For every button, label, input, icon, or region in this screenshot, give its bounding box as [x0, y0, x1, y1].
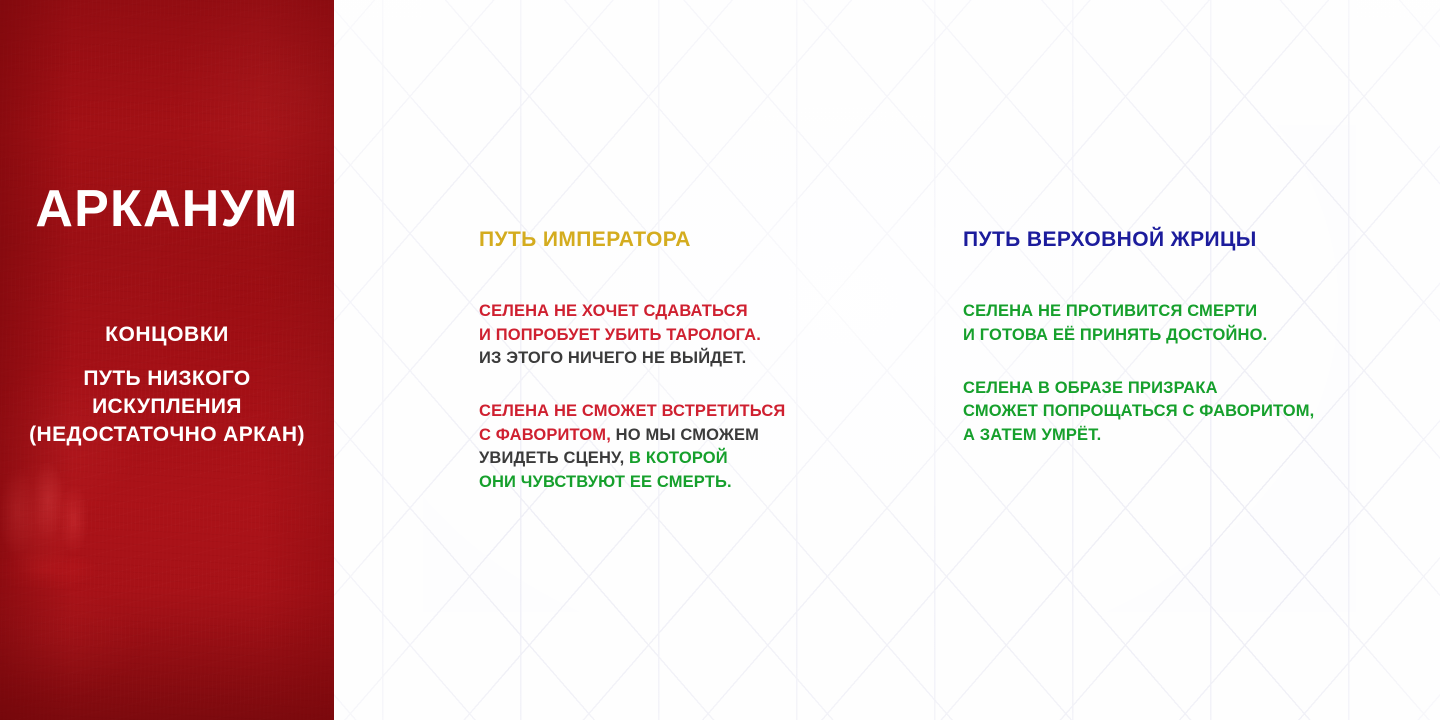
column-heading-priestess: ПУТЬ ВЕРХОВНОЙ ЖРИЦЫ: [963, 228, 1403, 252]
ending-paragraph: СЕЛЕНА НЕ ХОЧЕТ СДАВАТЬСЯИ ПОПРОБУЕТ УБИ…: [479, 300, 879, 370]
slide-root: АРКАНУМ КОНЦОВКИ ПУТЬ НИЗКОГО ИСКУПЛЕНИЯ…: [0, 0, 1440, 720]
column-priestess: ПУТЬ ВЕРХОВНОЙ ЖРИЦЫ СЕЛЕНА НЕ ПРОТИВИТС…: [963, 228, 1403, 447]
text-run-green: ОНИ ЧУВСТВУЮТ ЕЕ СМЕРТЬ.: [479, 473, 732, 491]
column-heading-emperor: ПУТЬ ИМПЕРАТОРА: [479, 228, 879, 252]
text-run-green: СЕЛЕНА В ОБРАЗЕ ПРИЗРАКА: [963, 379, 1218, 397]
text-run-red: СЕЛЕНА НЕ СМОЖЕТ ВСТРЕТИТЬСЯ: [479, 402, 785, 420]
text-run-green: И ГОТОВА ЕЁ ПРИНЯТЬ ДОСТОЙНО.: [963, 326, 1267, 344]
sidebar-kicker-label: КОНЦОВКИ: [18, 322, 316, 347]
ending-paragraph: СЕЛЕНА В ОБРАЗЕ ПРИЗРАКАСМОЖЕТ ПОПРОЩАТЬ…: [963, 377, 1403, 447]
text-run-red: С ФАВОРИТОМ,: [479, 426, 611, 444]
ending-paragraph: СЕЛЕНА НЕ СМОЖЕТ ВСТРЕТИТЬСЯС ФАВОРИТОМ,…: [479, 400, 879, 494]
page-title: АРКАНУМ: [0, 183, 334, 235]
text-run-gray: ИЗ ЭТОГО НИЧЕГО НЕ ВЫЙДЕТ.: [479, 349, 746, 367]
column-body-priestess: СЕЛЕНА НЕ ПРОТИВИТСЯ СМЕРТИИ ГОТОВА ЕЁ П…: [963, 300, 1403, 447]
text-run-red: СЕЛЕНА НЕ ХОЧЕТ СДАВАТЬСЯ: [479, 302, 748, 320]
ending-paragraph: СЕЛЕНА НЕ ПРОТИВИТСЯ СМЕРТИИ ГОТОВА ЕЁ П…: [963, 300, 1403, 347]
sidebar-subtitle-block: КОНЦОВКИ ПУТЬ НИЗКОГО ИСКУПЛЕНИЯ (НЕДОСТ…: [18, 322, 316, 448]
text-run-green: СЕЛЕНА НЕ ПРОТИВИТСЯ СМЕРТИ: [963, 302, 1257, 320]
content-canvas: ПУТЬ ИМПЕРАТОРА СЕЛЕНА НЕ ХОЧЕТ СДАВАТЬС…: [334, 0, 1440, 720]
text-run-gray: НО МЫ СМОЖЕМ: [611, 426, 759, 444]
sidebar-content: АРКАНУМ КОНЦОВКИ ПУТЬ НИЗКОГО ИСКУПЛЕНИЯ…: [0, 0, 334, 720]
endings-columns: ПУТЬ ИМПЕРАТОРА СЕЛЕНА НЕ ХОЧЕТ СДАВАТЬС…: [334, 0, 1440, 720]
text-run-green: В КОТОРОЙ: [624, 449, 727, 467]
title-sidebar: АРКАНУМ КОНЦОВКИ ПУТЬ НИЗКОГО ИСКУПЛЕНИЯ…: [0, 0, 334, 720]
column-body-emperor: СЕЛЕНА НЕ ХОЧЕТ СДАВАТЬСЯИ ПОПРОБУЕТ УБИ…: [479, 300, 879, 494]
text-run-red: И ПОПРОБУЕТ УБИТЬ ТАРОЛОГА.: [479, 326, 761, 344]
text-run-gray: УВИДЕТЬ СЦЕНУ,: [479, 449, 624, 467]
text-run-green: А ЗАТЕМ УМРЁТ.: [963, 426, 1101, 444]
column-emperor: ПУТЬ ИМПЕРАТОРА СЕЛЕНА НЕ ХОЧЕТ СДАВАТЬС…: [479, 228, 879, 494]
text-run-green: СМОЖЕТ ПОПРОЩАТЬСЯ С ФАВОРИТОМ,: [963, 402, 1314, 420]
sidebar-subtitle-label: ПУТЬ НИЗКОГО ИСКУПЛЕНИЯ (НЕДОСТАТОЧНО АР…: [18, 365, 316, 448]
